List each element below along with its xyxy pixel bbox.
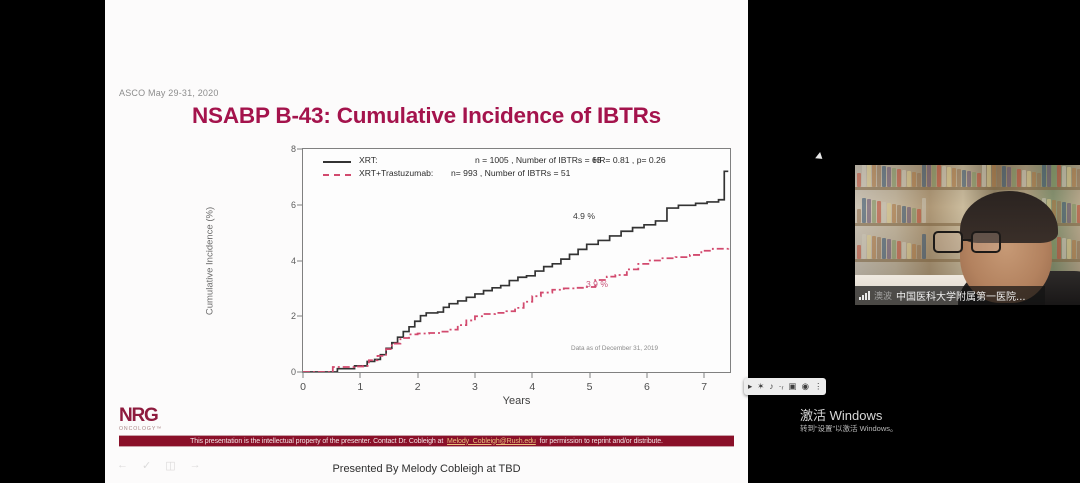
book	[1027, 171, 1031, 187]
book	[977, 173, 981, 187]
book	[897, 205, 901, 223]
book	[857, 209, 861, 223]
x-axis-tick-label: 1	[357, 381, 363, 393]
windows-activation-watermark: 激活 Windows 转到“设置”以激活 Windows。	[800, 408, 950, 434]
xrt-endpoint-label: 4.9 %	[573, 211, 595, 221]
book	[1072, 204, 1076, 223]
nrg-oncology-logo: NRG ONCOLOGY™	[119, 406, 162, 432]
participant-video-tile[interactable]: 澳波 中国医科大学附属第一医院...	[855, 165, 1080, 305]
y-axis-tick-label: 4	[291, 256, 296, 266]
participant-name-bar: 澳波 中国医科大学附属第一医院...	[855, 286, 1045, 305]
bookshelf-shelf	[855, 187, 1080, 190]
book	[872, 236, 876, 259]
xrt-curve	[303, 171, 728, 372]
book	[877, 165, 881, 187]
legend-label-xrt: XRT:	[359, 155, 377, 165]
book	[877, 201, 881, 223]
book	[867, 165, 871, 187]
x-axis-tick	[417, 372, 418, 378]
book	[857, 173, 861, 187]
book	[957, 169, 961, 187]
y-axis-title: Cumulative Incidence (%)	[205, 207, 216, 315]
y-axis-tick-label: 8	[291, 144, 296, 154]
book	[867, 235, 871, 259]
pen-icon[interactable]: ♪	[769, 382, 773, 391]
nrg-logo-main: NRG	[119, 406, 162, 425]
watermark-subtitle: 转到“设置”以激活 Windows。	[800, 424, 950, 433]
glasses-left-lens	[933, 231, 963, 253]
book	[1062, 202, 1066, 223]
participant-name-label: 中国医科大学附属第一医院...	[896, 288, 1026, 303]
book	[947, 167, 951, 187]
book	[887, 203, 891, 223]
x-axis-tick-label: 6	[644, 381, 650, 393]
book	[912, 244, 916, 259]
pen-icon[interactable]: ✓	[142, 459, 151, 472]
book	[902, 242, 906, 259]
book	[942, 166, 946, 187]
legend-swatch-trastuzumab	[323, 174, 351, 176]
book	[892, 240, 896, 259]
book	[887, 239, 891, 259]
x-axis-tick	[589, 372, 590, 378]
presenter-email-link[interactable]: Melody_Cobleigh@Rush.edu	[447, 438, 536, 445]
glasses-bridge	[963, 239, 971, 241]
book	[877, 237, 881, 259]
book	[1067, 239, 1071, 259]
watermark-title: 激活 Windows	[800, 408, 950, 424]
y-axis-tick-label: 0	[291, 367, 296, 377]
book	[912, 208, 916, 223]
book	[897, 241, 901, 259]
book	[952, 168, 956, 187]
book	[922, 234, 926, 259]
book	[862, 198, 866, 223]
book	[902, 206, 906, 223]
book	[867, 199, 871, 223]
book	[922, 198, 926, 223]
presented-by-text: Presented By Melody Cobleigh at TBD	[105, 463, 748, 475]
y-axis-tick	[297, 260, 303, 261]
shared-slide[interactable]: ASCO May 29-31, 2020 NSABP B-43: Cumulat…	[105, 0, 748, 483]
book	[967, 171, 971, 187]
book	[972, 172, 976, 187]
x-axis-tick	[303, 372, 304, 378]
hazard-ratio-stat: HR= 0.81 , p= 0.26	[593, 155, 666, 165]
slide-nav-controls[interactable]: ← ✓ ◫ →	[117, 459, 201, 472]
book	[1002, 166, 1006, 187]
book	[987, 165, 991, 187]
book	[1017, 169, 1021, 187]
y-axis-tick	[297, 316, 303, 317]
select-icon[interactable]: ✶	[757, 382, 764, 391]
book	[997, 165, 1001, 187]
book	[912, 172, 916, 187]
book	[1057, 165, 1061, 187]
book	[992, 165, 996, 187]
next-icon[interactable]: →	[190, 459, 201, 472]
legend-swatch-xrt	[323, 161, 351, 163]
book	[917, 173, 921, 187]
cumulative-incidence-chart: Cumulative Incidence (%) XRT: n = 1005 ,…	[180, 143, 740, 433]
glasses-right-lens	[971, 231, 1001, 253]
book	[982, 165, 986, 187]
book	[882, 238, 886, 259]
book	[1052, 165, 1056, 187]
y-axis-tick	[297, 149, 303, 150]
book	[1062, 238, 1066, 259]
disclaimer-text-before: This presentation is the intellectual pr…	[190, 438, 443, 445]
book	[917, 245, 921, 259]
highlight-icon[interactable]: ·ᵣ	[779, 382, 784, 391]
x-axis-tick	[646, 372, 647, 378]
book	[882, 202, 886, 223]
book	[922, 165, 926, 187]
slides-icon[interactable]: ◫	[165, 459, 175, 472]
book	[857, 245, 861, 259]
eraser-icon[interactable]: ▣	[789, 382, 797, 391]
x-axis-tick	[360, 372, 361, 378]
more-options-icon[interactable]: ⋮	[814, 382, 823, 391]
zoom-screenshare-window: ASCO May 29-31, 2020 NSABP B-43: Cumulat…	[0, 0, 1080, 483]
disclaimer-text: This presentation is the intellectual pr…	[190, 438, 663, 445]
signal-strength-icon	[859, 291, 870, 300]
disclaimer-text-after: for permission to reprint and/or distrib…	[540, 438, 663, 445]
x-axis-tick	[704, 372, 705, 378]
book	[1037, 173, 1041, 187]
mouse-cursor	[815, 152, 825, 162]
book	[1042, 165, 1046, 187]
book	[927, 165, 931, 187]
book	[902, 170, 906, 187]
book	[892, 204, 896, 223]
book	[872, 200, 876, 223]
x-axis-tick-label: 7	[701, 381, 707, 393]
book	[1067, 203, 1071, 223]
data-cutoff-note: Data as of December 31, 2019	[571, 345, 658, 352]
book	[907, 171, 911, 187]
book	[862, 165, 866, 187]
book	[937, 165, 941, 187]
x-axis-tick-label: 3	[472, 381, 478, 393]
book	[1032, 172, 1036, 187]
book	[962, 170, 966, 187]
mouse-pointer-icon[interactable]: ▸	[748, 382, 752, 391]
trastuzumab-endpoint-label: 3.9 %	[586, 279, 608, 289]
x-axis-tick-label: 2	[415, 381, 421, 393]
nrg-logo-sub: ONCOLOGY™	[119, 426, 162, 432]
legend-stats-xrt: n = 1005 , Number of IBTRs = 63	[475, 155, 602, 165]
annotation-toolbar[interactable]: ▸ ✶ ♪ ·ᵣ ▣ ◉ ⋮	[744, 378, 826, 395]
legend-label-trastuzumab: XRT+Trastuzumab:	[359, 168, 433, 178]
book	[1012, 168, 1016, 187]
trastuzumab-curve	[303, 248, 728, 372]
slide-title: NSABP B-43: Cumulative Incidence of IBTR…	[105, 103, 748, 129]
book	[1007, 167, 1011, 187]
book	[862, 234, 866, 259]
book	[897, 169, 901, 187]
book	[1062, 166, 1066, 187]
x-axis-title: Years	[302, 395, 731, 407]
x-axis-tick	[474, 372, 475, 378]
book	[887, 167, 891, 187]
book	[1022, 170, 1026, 187]
book	[882, 166, 886, 187]
book	[1047, 165, 1051, 187]
prev-icon[interactable]: ←	[117, 459, 128, 472]
book	[917, 209, 921, 223]
book	[892, 168, 896, 187]
book	[1057, 237, 1061, 259]
book	[907, 207, 911, 223]
plot-area: XRT: n = 1005 , Number of IBTRs = 63 XRT…	[302, 148, 731, 373]
disclaimer-bar: This presentation is the intellectual pr…	[119, 435, 734, 447]
book	[907, 243, 911, 259]
book	[1072, 168, 1076, 187]
book	[872, 165, 876, 187]
x-axis-tick-label: 4	[529, 381, 535, 393]
legend-stats-trastuzumab: n= 993 , Number of IBTRs = 51	[451, 168, 570, 178]
book	[1057, 201, 1061, 223]
book	[932, 165, 936, 187]
book	[1067, 167, 1071, 187]
x-axis-tick-label: 5	[587, 381, 593, 393]
app-word-label: 澳波	[874, 289, 892, 302]
x-axis-tick-label: 0	[300, 381, 306, 393]
y-axis-tick-label: 2	[291, 311, 296, 321]
x-axis-tick	[532, 372, 533, 378]
y-axis-tick	[297, 204, 303, 205]
legend-row-trastuzumab: XRT+Trastuzumab: n= 993 , Number of IBTR…	[323, 168, 713, 181]
conference-line: ASCO May 29-31, 2020	[119, 88, 219, 98]
stamp-icon[interactable]: ◉	[802, 382, 809, 391]
book	[1072, 240, 1076, 259]
y-axis-tick-label: 6	[291, 200, 296, 210]
